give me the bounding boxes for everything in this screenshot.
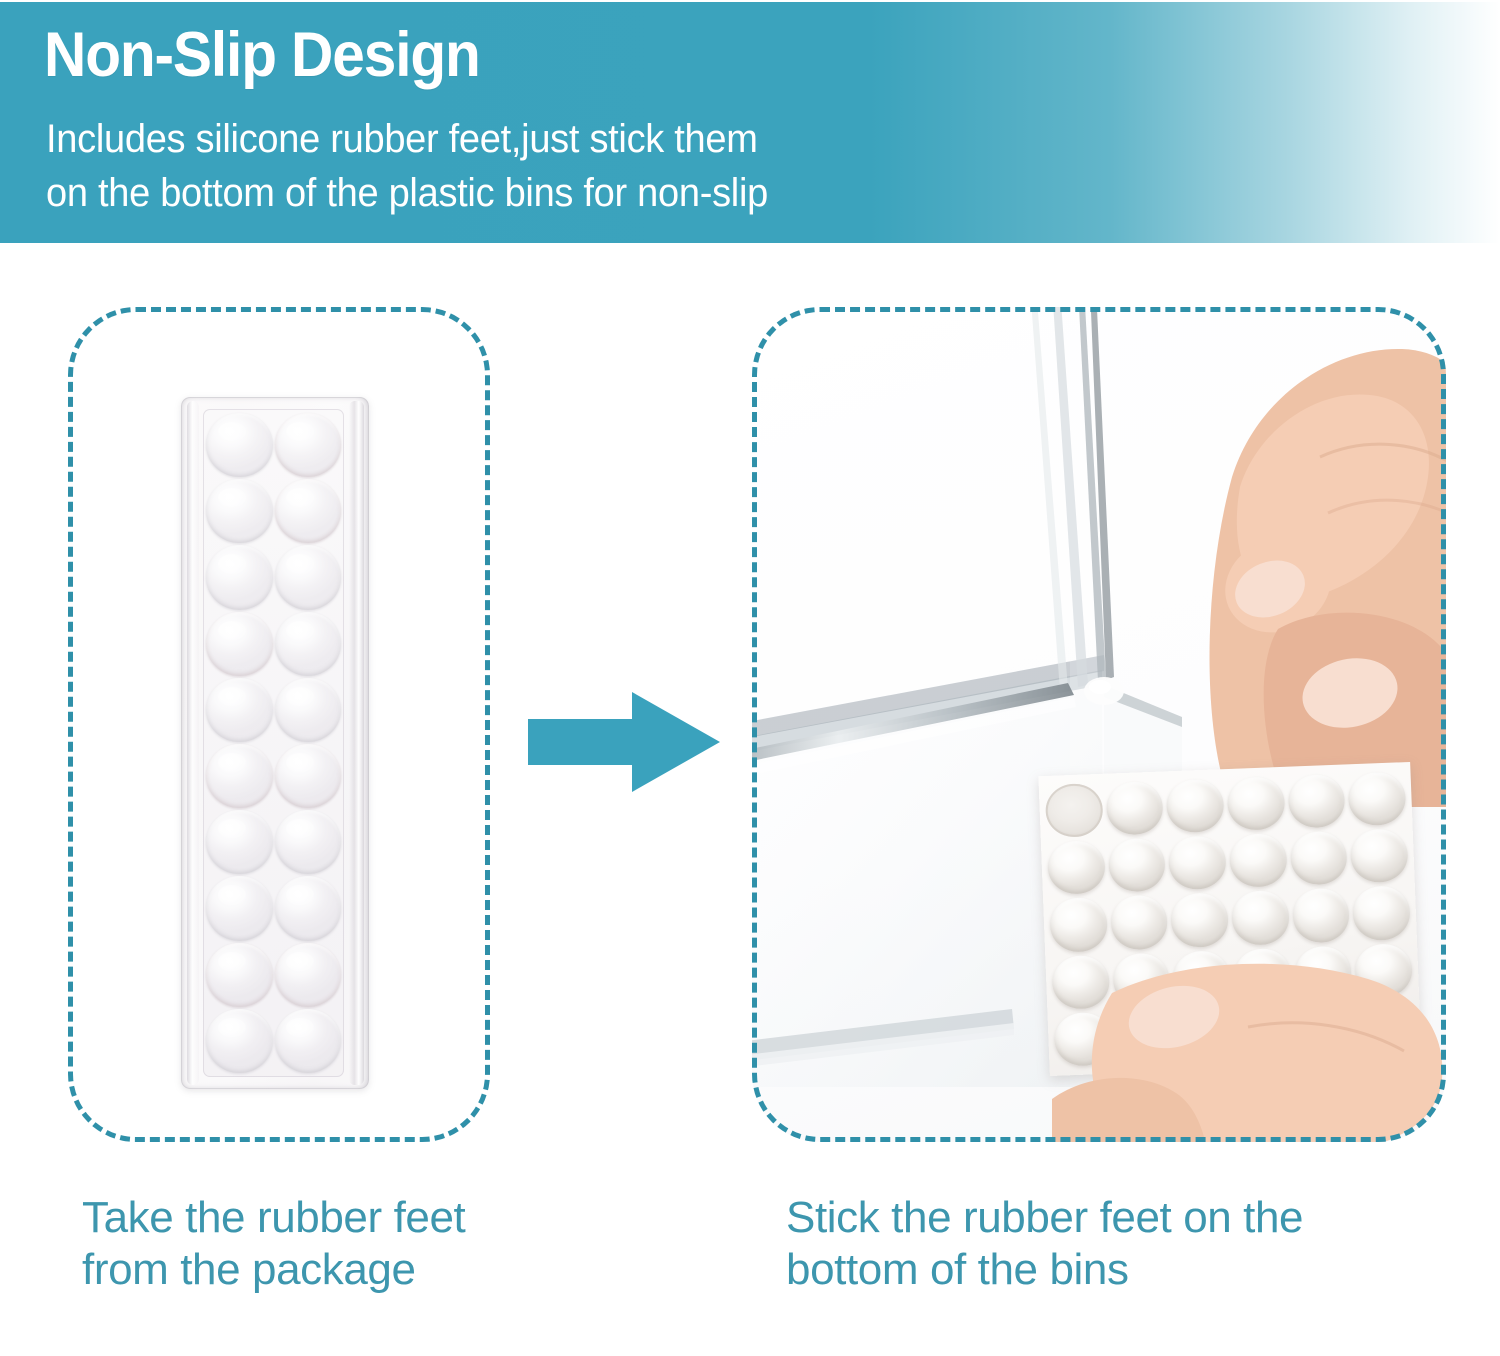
step-2-caption: Stick the rubber feet on the bottom of t… bbox=[786, 1192, 1446, 1296]
step-1-caption: Take the rubber feet from the package bbox=[82, 1192, 512, 1296]
infographic-page: Non-Slip Design Includes silicone rubber… bbox=[0, 0, 1500, 1356]
banner-subtitle-line-1: Includes silicone rubber feet,just stick… bbox=[46, 112, 768, 166]
step-2-panel bbox=[752, 307, 1446, 1142]
banner-subtitle-line-2: on the bottom of the plastic bins for no… bbox=[46, 166, 768, 220]
banner-subtitle: Includes silicone rubber feet,just stick… bbox=[46, 112, 768, 220]
step-1-panel bbox=[68, 307, 490, 1142]
page-title: Non-Slip Design bbox=[44, 18, 480, 92]
header-banner: Non-Slip Design Includes silicone rubber… bbox=[0, 2, 1500, 243]
right-arrow-icon bbox=[528, 692, 720, 792]
